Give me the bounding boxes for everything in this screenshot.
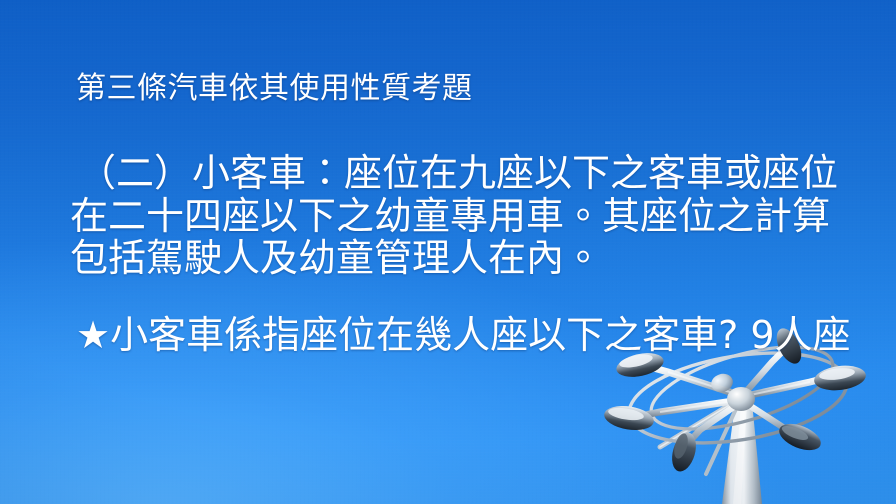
slide-text-layer: 第三條汽車依其使用性質考題 （二）小客車：座位在九座以下之客車或座位 在二十四座… [0, 0, 896, 504]
body-line-3: 包括駕駛人及幼童管理人在內。 [70, 237, 870, 280]
body-line-1: （二）小客車：座位在九座以下之客車或座位 [70, 152, 870, 195]
presentation-slide: 第三條汽車依其使用性質考題 （二）小客車：座位在九座以下之客車或座位 在二十四座… [0, 0, 896, 504]
slide-body: （二）小客車：座位在九座以下之客車或座位 在二十四座以下之幼童專用車。其座位之計… [70, 152, 870, 280]
body-line-2: 在二十四座以下之幼童專用車。其座位之計算 [70, 195, 870, 238]
slide-title: 第三條汽車依其使用性質考題 [76, 70, 473, 108]
question-line: ★小客車係指座位在幾人座以下之客車? 9人座 [76, 314, 851, 357]
